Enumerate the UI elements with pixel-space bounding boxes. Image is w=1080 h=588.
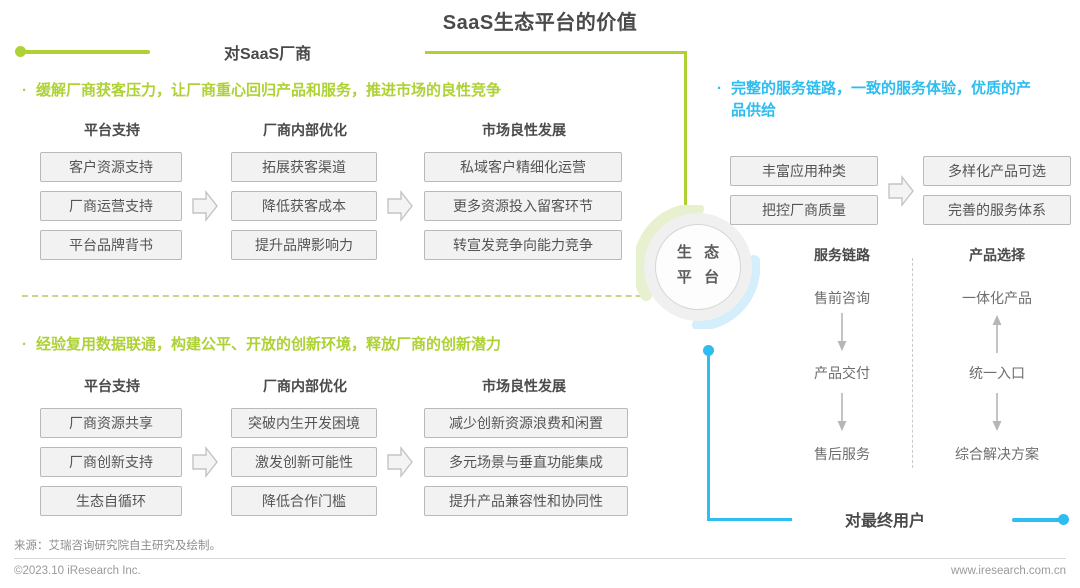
claim-enduser-1: ·完整的服务链路，一致的服务体验，优质的产品供给 [717, 78, 1057, 122]
box-item[interactable]: 降低获客成本 [231, 191, 377, 221]
title-connector-vertical [684, 51, 687, 218]
box-item[interactable]: 突破内生开发困境 [231, 408, 377, 438]
box-item[interactable]: 拓展获客渠道 [231, 152, 377, 182]
claim-vendor-1: ·缓解厂商获客压力，让厂商重心回归产品和服务，推进市场的良性竞争 [22, 80, 662, 102]
box-item[interactable]: 私域客户精细化运营 [424, 152, 622, 182]
copyright-text: ©2023.10 iResearch Inc. [14, 565, 141, 577]
page-title: SaaS生态平台的价值 [0, 6, 1080, 35]
flow-arrow-icon [191, 445, 219, 479]
column-header-market-development-2: 市场良性发展 [424, 376, 624, 396]
flow-arrow-icon [887, 174, 915, 208]
box-item[interactable]: 客户资源支持 [40, 152, 182, 182]
flow-item: 售后服务 [777, 444, 907, 464]
green-lead-line [24, 50, 150, 54]
bullet-icon: · [22, 80, 27, 102]
box-item[interactable]: 提升产品兼容性和协同性 [424, 486, 628, 516]
column-header-vendor-optimization-1: 厂商内部优化 [230, 120, 380, 140]
flow-item: 综合解决方案 [932, 444, 1062, 464]
enduser-connector-vertical [707, 350, 710, 521]
emblem-label-line1: 生 态 [655, 240, 741, 265]
box-item[interactable]: 完善的服务体系 [923, 195, 1071, 225]
heading-for-saas-vendors: 对SaaS厂商 [224, 40, 311, 64]
flow-arrow-icon [191, 189, 219, 223]
box-item[interactable]: 降低合作门槛 [231, 486, 377, 516]
footer-divider [14, 558, 1066, 559]
arrow-down-icon [836, 313, 848, 353]
box-item[interactable]: 厂商运营支持 [40, 191, 182, 221]
title-connector-horizontal [425, 51, 687, 54]
flow-item: 一体化产品 [932, 288, 1062, 308]
claim-vendor-2: ·经验复用数据联通，构建公平、开放的创新环境，释放厂商的创新潜力 [22, 334, 662, 356]
box-item[interactable]: 转宣发竞争向能力竞争 [424, 230, 622, 260]
website-url[interactable]: www.iresearch.com.cn [951, 565, 1066, 577]
box-item[interactable]: 丰富应用种类 [730, 156, 878, 186]
section-divider [22, 295, 692, 297]
flow-column-divider [912, 258, 913, 468]
arrow-down-icon [991, 393, 1003, 433]
heading-for-end-users: 对最终用户 [845, 507, 925, 531]
flow-item: 售前咨询 [777, 288, 907, 308]
column-header-platform-support-1: 平台支持 [42, 120, 182, 140]
box-item[interactable]: 多元场景与垂直功能集成 [424, 447, 628, 477]
emblem-label-line2: 平 台 [655, 265, 741, 290]
flow-header-service-chain: 服务链路 [782, 245, 902, 265]
arrow-up-icon [991, 313, 1003, 353]
blue-lead-line [1012, 518, 1064, 522]
flow-item: 产品交付 [777, 363, 907, 383]
box-item[interactable]: 激发创新可能性 [231, 447, 377, 477]
box-item[interactable]: 平台品牌背书 [40, 230, 182, 260]
column-header-vendor-optimization-2: 厂商内部优化 [230, 376, 380, 396]
arrow-down-icon [836, 393, 848, 433]
box-item[interactable]: 提升品牌影响力 [231, 230, 377, 260]
emblem-label: 生 态 平 台 [655, 240, 741, 290]
source-note: 来源：艾瑞咨询研究院自主研究及绘制。 [14, 537, 221, 553]
box-item[interactable]: 更多资源投入留客环节 [424, 191, 622, 221]
infographic-canvas: SaaS生态平台的价值 对SaaS厂商 对最终用户 ·缓解厂商获客压力，让厂商重… [0, 0, 1080, 588]
box-item[interactable]: 多样化产品可选 [923, 156, 1071, 186]
claim-enduser-1-text: 完整的服务链路，一致的服务体验，优质的产品供给 [731, 78, 1031, 122]
claim-vendor-2-text: 经验复用数据联通，构建公平、开放的创新环境，释放厂商的创新潜力 [36, 336, 501, 353]
column-header-platform-support-2: 平台支持 [42, 376, 182, 396]
enduser-connector-horizontal [707, 518, 792, 521]
box-item[interactable]: 厂商创新支持 [40, 447, 182, 477]
box-item[interactable]: 减少创新资源浪费和闲置 [424, 408, 628, 438]
blue-lead-dot [1058, 514, 1069, 525]
flow-item: 统一入口 [932, 363, 1062, 383]
box-item[interactable]: 把控厂商质量 [730, 195, 878, 225]
box-item[interactable]: 厂商资源共享 [40, 408, 182, 438]
bullet-icon: · [22, 334, 27, 356]
column-header-market-development-1: 市场良性发展 [424, 120, 624, 140]
bullet-icon: · [717, 78, 722, 100]
box-item[interactable]: 生态自循环 [40, 486, 182, 516]
claim-vendor-1-text: 缓解厂商获客压力，让厂商重心回归产品和服务，推进市场的良性竞争 [36, 82, 501, 99]
flow-arrow-icon [386, 445, 414, 479]
flow-header-product-choice: 产品选择 [937, 245, 1057, 265]
flow-arrow-icon [386, 189, 414, 223]
